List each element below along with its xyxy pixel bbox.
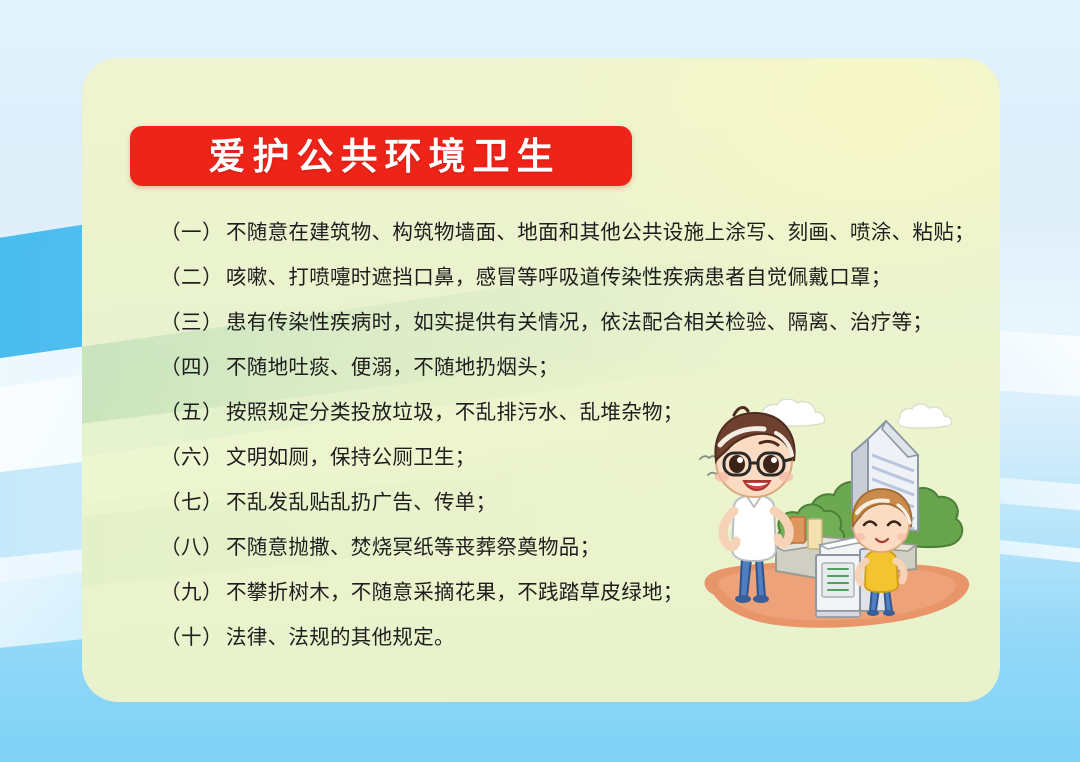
- rule-index: （六）: [160, 435, 226, 480]
- rule-index: （八）: [160, 525, 226, 570]
- rule-text: 患有传染性疾病时，如实提供有关情况，依法配合相关检验、隔离、治疗等；: [226, 300, 960, 345]
- title-banner: 爱护公共环境卫生: [130, 126, 632, 186]
- rule-item-4: （四） 不随地吐痰、便溺，不随地扔烟头；: [160, 345, 960, 390]
- rule-item-2: （二） 咳嗽、打喷嚏时遮挡口鼻，感冒等呼吸道传染性疾病患者自觉佩戴口罩；: [160, 255, 960, 300]
- content-card: 爱护公共环境卫生 （一） 不随意在建筑物、构筑物墙面、地面和其他公共设施上涂写、…: [82, 58, 1000, 702]
- rule-text: 不随地吐痰、便溺，不随地扔烟头；: [226, 345, 960, 390]
- cloud-right: [898, 404, 951, 428]
- rule-item-3: （三） 患有传染性疾病时，如实提供有关情况，依法配合相关检验、隔离、治疗等；: [160, 300, 960, 345]
- rule-item-1: （一） 不随意在建筑物、构筑物墙面、地面和其他公共设施上涂写、刻画、喷涂、粘贴；: [160, 210, 960, 255]
- rule-text: 咳嗽、打喷嚏时遮挡口鼻，感冒等呼吸道传染性疾病患者自觉佩戴口罩；: [226, 255, 960, 300]
- rule-index: （七）: [160, 480, 226, 525]
- rule-index: （一）: [160, 210, 226, 255]
- rule-index: （五）: [160, 390, 226, 435]
- city-children-illustration: [672, 399, 992, 644]
- rule-index: （三）: [160, 300, 226, 345]
- rule-index: （二）: [160, 255, 226, 300]
- page-title: 爱护公共环境卫生: [202, 138, 561, 175]
- rule-text: 不随意在建筑物、构筑物墙面、地面和其他公共设施上涂写、刻画、喷涂、粘贴；: [226, 210, 975, 255]
- rule-index: （四）: [160, 345, 226, 390]
- rule-index: （九）: [160, 570, 226, 615]
- poster-root: 爱护公共环境卫生 （一） 不随意在建筑物、构筑物墙面、地面和其他公共设施上涂写、…: [0, 0, 1080, 762]
- utility-cabinet: [816, 555, 860, 617]
- rule-index: （十）: [160, 615, 226, 660]
